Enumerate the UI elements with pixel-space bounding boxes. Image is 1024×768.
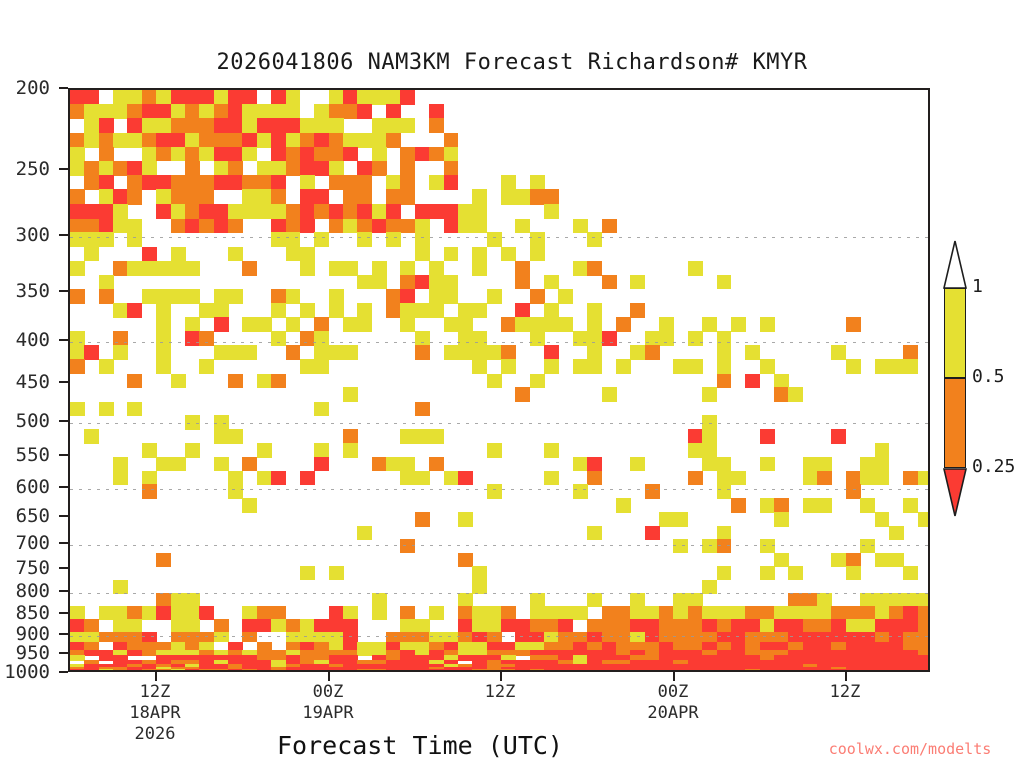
heatmap-cell — [587, 619, 602, 632]
heatmap-cell — [214, 204, 229, 219]
y-tick-mark-250 — [59, 168, 68, 170]
heatmap-cell — [774, 619, 789, 632]
heatmap-cell — [429, 147, 444, 161]
heatmap-cell — [156, 261, 171, 276]
heatmap-cell — [487, 345, 502, 360]
heatmap-cell — [846, 669, 861, 672]
heatmap-cell — [343, 619, 358, 632]
heatmap-cell — [300, 261, 315, 276]
heatmap-cell — [889, 671, 904, 672]
heatmap-cell — [515, 189, 530, 204]
heatmap-cell — [228, 90, 243, 105]
heatmap-cell — [788, 619, 803, 632]
heatmap-cell — [731, 632, 746, 643]
heatmap-cell — [400, 175, 415, 190]
heatmap-cell — [875, 671, 890, 672]
heatmap-cell — [515, 632, 530, 643]
heatmap-cell — [573, 261, 588, 276]
heatmap-cell — [70, 671, 85, 672]
heatmap-cell — [357, 104, 372, 118]
heatmap-cell — [717, 566, 732, 580]
y-tick-mark-850 — [59, 612, 68, 614]
heatmap-cell — [429, 632, 444, 643]
heatmap-cell — [530, 632, 545, 643]
heatmap-cell — [343, 204, 358, 219]
heatmap-cell — [242, 632, 257, 643]
heatmap-cell — [415, 429, 430, 444]
heatmap-cell — [544, 275, 559, 290]
heatmap-cell — [760, 606, 775, 619]
heatmap-cell — [242, 90, 257, 105]
heatmap-cell — [573, 671, 588, 672]
heatmap-cell — [242, 261, 257, 276]
heatmap-cell — [400, 669, 415, 672]
heatmap-cell — [300, 632, 315, 643]
heatmap-cell — [171, 118, 186, 133]
heatmap-cell — [199, 118, 214, 133]
heatmap-cell — [688, 261, 703, 276]
heatmap-cell — [472, 345, 487, 360]
y-axis-label-450: 450 — [0, 371, 50, 393]
heatmap-cell — [185, 289, 200, 304]
heatmap-cell — [357, 189, 372, 204]
heatmap-cell — [400, 429, 415, 444]
heatmap-cell — [846, 317, 861, 332]
heatmap-cell — [286, 161, 301, 176]
heatmap-cell — [587, 331, 602, 345]
colorbar-cap-below — [943, 468, 967, 516]
heatmap-cell — [357, 671, 372, 672]
heatmap-cell — [645, 526, 660, 540]
heatmap-cell — [300, 189, 315, 204]
heatmap-cell — [860, 457, 875, 471]
heatmap-cell — [113, 104, 128, 118]
heatmap-cell — [314, 118, 329, 133]
heatmap-cell — [903, 606, 918, 619]
y-axis-label-850: 850 — [0, 602, 50, 624]
heatmap-cell — [918, 632, 930, 643]
heatmap-cell — [372, 118, 387, 133]
y-tick-mark-450 — [59, 381, 68, 383]
heatmap-cell — [558, 289, 573, 304]
heatmap-cell — [314, 457, 329, 471]
heatmap-cell — [329, 161, 344, 176]
heatmap-cell — [214, 147, 229, 161]
heatmap-cell — [70, 619, 85, 632]
heatmap-cell — [171, 133, 186, 148]
heatmap-cell — [228, 104, 243, 118]
heatmap-cell — [343, 345, 358, 360]
heatmap-cell — [372, 671, 387, 672]
heatmap-cell — [717, 331, 732, 345]
heatmap-cell — [357, 133, 372, 148]
heatmap-cell — [314, 345, 329, 360]
heatmap-cell — [257, 471, 272, 485]
heatmap-cell — [286, 671, 301, 672]
heatmap-cell — [760, 566, 775, 580]
heatmap-cell — [127, 606, 142, 619]
heatmap-cell — [300, 133, 315, 148]
heatmap-cell — [444, 345, 459, 360]
heatmap-cell — [515, 671, 530, 672]
heatmap-cell — [429, 275, 444, 290]
heatmap-cell — [357, 275, 372, 290]
heatmap-cell — [242, 457, 257, 471]
heatmap-cell — [127, 189, 142, 204]
heatmap-cell — [156, 90, 171, 105]
heatmap-cell — [487, 484, 502, 498]
heatmap-cell — [831, 632, 846, 643]
heatmap-cell — [343, 317, 358, 332]
heatmap-cell — [602, 331, 617, 345]
heatmap-cell — [271, 289, 286, 304]
heatmap-cell — [472, 261, 487, 276]
heatmap-cell — [171, 457, 186, 471]
heatmap-cell — [415, 669, 430, 672]
heatmap-cell — [113, 189, 128, 204]
heatmap-cell — [185, 261, 200, 276]
heatmap-cell — [228, 345, 243, 360]
heatmap-cell — [314, 104, 329, 118]
heatmap-cell — [271, 619, 286, 632]
heatmap-cell — [803, 606, 818, 619]
heatmap-cell — [659, 606, 674, 619]
heatmap-cell — [645, 606, 660, 619]
heatmap-cell — [99, 204, 114, 219]
heatmap-cell — [817, 606, 832, 619]
heatmap-cell — [788, 632, 803, 643]
heatmap-cell — [127, 104, 142, 118]
heatmap-cell — [846, 359, 861, 374]
y-tick-mark-750 — [59, 567, 68, 569]
x-axis-label-4: 12Z — [785, 682, 905, 703]
heatmap-cell — [228, 671, 243, 672]
heatmap-cell — [300, 204, 315, 219]
colorbar-segment-0 — [944, 288, 966, 378]
heatmap-cell — [587, 303, 602, 317]
heatmap-cell — [702, 387, 717, 402]
heatmap-cell — [530, 175, 545, 190]
heatmap-cell — [171, 175, 186, 190]
heatmap-cell — [774, 387, 789, 402]
heatmap-cell — [84, 619, 99, 632]
heatmap-cell — [472, 359, 487, 374]
heatmap-cell — [271, 118, 286, 133]
heatmap-cell — [444, 247, 459, 261]
heatmap-cell — [271, 104, 286, 118]
heatmap-cell — [760, 359, 775, 374]
heatmap-cell — [415, 471, 430, 485]
heatmap-cell — [171, 671, 186, 672]
heatmap-cell — [386, 671, 401, 672]
heatmap-cell — [444, 175, 459, 190]
heatmap-cell — [199, 147, 214, 161]
heatmap-cell — [702, 606, 717, 619]
heatmap-cell — [616, 317, 631, 332]
heatmap-cell — [156, 104, 171, 118]
heatmap-cell — [185, 632, 200, 643]
heatmap-cell — [860, 606, 875, 619]
colorbar-cap-above — [943, 240, 967, 288]
heatmap-cell — [142, 104, 157, 118]
heatmap-cell — [171, 606, 186, 619]
heatmap-cell — [386, 457, 401, 471]
heatmap-cell — [472, 632, 487, 643]
heatmap-cell — [400, 189, 415, 204]
heatmap-cell — [214, 619, 229, 632]
heatmap-cell — [602, 387, 617, 402]
heatmap-cell — [99, 275, 114, 290]
heatmap-cell — [645, 671, 660, 672]
heatmap-cell — [386, 303, 401, 317]
heatmap-cell — [444, 133, 459, 148]
heatmap-cell — [70, 669, 85, 672]
heatmap-cell — [458, 471, 473, 485]
heatmap-cell — [903, 471, 918, 485]
heatmap-cell — [889, 359, 904, 374]
heatmap-cell — [530, 232, 545, 247]
heatmap-cell — [300, 331, 315, 345]
heatmap-cell — [918, 606, 930, 619]
y-axis-label-600: 600 — [0, 476, 50, 498]
heatmap-cell — [745, 671, 760, 672]
heatmap-cell — [70, 331, 85, 345]
heatmap-cell — [199, 104, 214, 118]
heatmap-cell — [760, 429, 775, 444]
heatmap-cell — [329, 566, 344, 580]
heatmap-cell — [415, 147, 430, 161]
heatmap-cell — [415, 345, 430, 360]
heatmap-cell — [472, 669, 487, 672]
heatmap-cell — [400, 303, 415, 317]
heatmap-cell — [702, 429, 717, 444]
heatmap-cell — [242, 669, 257, 672]
heatmap-cell — [286, 247, 301, 261]
heatmap-cell — [343, 429, 358, 444]
heatmap-cell — [242, 204, 257, 219]
heatmap-cell — [127, 133, 142, 148]
heatmap-cell — [573, 359, 588, 374]
heatmap-cell — [860, 593, 875, 607]
heatmap-cell — [286, 104, 301, 118]
heatmap-cell — [343, 90, 358, 105]
heatmap-cell — [530, 374, 545, 388]
heatmap-cell — [329, 345, 344, 360]
x-tick-mark-1 — [328, 672, 330, 681]
y-axis-label-650: 650 — [0, 505, 50, 527]
heatmap-cell — [314, 669, 329, 672]
heatmap-cell — [803, 498, 818, 512]
heatmap-cell — [171, 632, 186, 643]
heatmap-cell — [357, 650, 372, 656]
heatmap-cell — [602, 671, 617, 672]
heatmap-cell — [386, 118, 401, 133]
heatmap-cell — [860, 498, 875, 512]
heatmap-cell — [214, 161, 229, 176]
heatmap-cell — [242, 606, 257, 619]
heatmap-cell — [329, 104, 344, 118]
heatmap-cell — [860, 671, 875, 672]
heatmap-cell — [400, 275, 415, 290]
heatmap-cell — [587, 261, 602, 276]
chart-title: 2026041806 NAM3KM Forecast Richardson# K… — [0, 50, 1024, 75]
colorbar-label-2: 0.25 — [972, 456, 1015, 477]
heatmap-cell — [171, 204, 186, 219]
heatmap-cell — [774, 669, 789, 672]
heatmap-cell — [530, 606, 545, 619]
heatmap-cell — [515, 669, 530, 672]
heatmap-cell — [587, 457, 602, 471]
heatmap-cell — [903, 619, 918, 632]
heatmap-cell — [372, 275, 387, 290]
heatmap-cell — [889, 526, 904, 540]
heatmap-cell — [99, 219, 114, 233]
heatmap-cell — [444, 161, 459, 176]
heatmap-cell — [702, 671, 717, 672]
heatmap-cell — [286, 118, 301, 133]
heatmap-cell — [717, 632, 732, 643]
heatmap-cell — [544, 443, 559, 458]
heatmap-cell — [386, 133, 401, 148]
heatmap-cell — [372, 606, 387, 619]
heatmap-cell — [860, 619, 875, 632]
heatmap-cell — [113, 219, 128, 233]
heatmap-cell — [214, 303, 229, 317]
heatmap-cell — [314, 232, 329, 247]
heatmap-cell — [688, 606, 703, 619]
heatmap-cell — [415, 247, 430, 261]
heatmap-cell — [515, 650, 530, 656]
heatmap-cell — [530, 289, 545, 304]
heatmap-cell — [156, 331, 171, 345]
heatmap-cell — [228, 118, 243, 133]
heatmap-cell — [242, 175, 257, 190]
y-axis-label-200: 200 — [0, 77, 50, 99]
heatmap-cell — [386, 232, 401, 247]
heatmap-cell — [99, 669, 114, 672]
heatmap-cell — [171, 104, 186, 118]
heatmap-cell — [357, 303, 372, 317]
heatmap-cell — [185, 90, 200, 105]
heatmap-cell — [329, 204, 344, 219]
heatmap-cell — [429, 261, 444, 276]
heatmap-cell — [70, 345, 85, 360]
heatmap-cell — [70, 402, 85, 416]
heatmap-cell — [99, 606, 114, 619]
heatmap-cell — [228, 175, 243, 190]
heatmap-cell — [444, 317, 459, 332]
heatmap-cell — [673, 512, 688, 527]
heatmap-cell — [228, 247, 243, 261]
heatmap-cell — [171, 189, 186, 204]
heatmap-cell — [171, 374, 186, 388]
heatmap-cell — [774, 553, 789, 567]
heatmap-cell — [314, 359, 329, 374]
heatmap-cell — [616, 632, 631, 643]
x-tick-mark-4 — [845, 672, 847, 681]
heatmap-cell — [113, 457, 128, 471]
heatmap-cell — [415, 632, 430, 643]
heatmap-cell — [214, 632, 229, 643]
heatmap-cell — [156, 671, 171, 672]
heatmap-cell — [903, 566, 918, 580]
heatmap-cell — [515, 317, 530, 332]
heatmap-cell — [199, 219, 214, 233]
heatmap-cell — [817, 471, 832, 485]
heatmap-cell — [286, 669, 301, 672]
y-tick-mark-550 — [59, 454, 68, 456]
heatmap-cell — [343, 219, 358, 233]
heatmap-cell — [185, 118, 200, 133]
heatmap-cell — [372, 669, 387, 672]
heatmap-cell — [199, 303, 214, 317]
heatmap-cell — [501, 345, 516, 360]
heatmap-cell — [875, 359, 890, 374]
heatmap-cell — [400, 261, 415, 276]
heatmap-cell — [889, 669, 904, 672]
heatmap-cell — [558, 619, 573, 632]
heatmap-cell — [214, 219, 229, 233]
heatmap-cell — [84, 671, 99, 672]
heatmap-cell — [616, 619, 631, 632]
heatmap-cell — [127, 650, 142, 656]
heatmap-cell — [343, 671, 358, 672]
heatmap-cell — [214, 317, 229, 332]
heatmap-plot-area — [68, 88, 930, 672]
heatmap-cell — [171, 261, 186, 276]
heatmap-cell — [645, 632, 660, 643]
heatmap-cell — [343, 606, 358, 619]
heatmap-cell — [602, 669, 617, 672]
heatmap-cell — [587, 632, 602, 643]
heatmap-cell — [831, 553, 846, 567]
heatmap-cell — [415, 671, 430, 672]
heatmap-cell — [343, 175, 358, 190]
heatmap-cell — [444, 219, 459, 233]
heatmap-cell — [343, 261, 358, 276]
heatmap-cell — [99, 147, 114, 161]
heatmap-cell — [329, 118, 344, 133]
heatmap-cell — [185, 671, 200, 672]
heatmap-cell — [530, 671, 545, 672]
heatmap-cell — [903, 669, 918, 672]
heatmap-cell — [645, 331, 660, 345]
heatmap-cell — [300, 671, 315, 672]
heatmap-cell — [602, 632, 617, 643]
heatmap-cell — [257, 669, 272, 672]
heatmap-cell — [113, 632, 128, 643]
heatmap-cell — [630, 619, 645, 632]
heatmap-cell — [156, 133, 171, 148]
heatmap-cell — [760, 539, 775, 553]
heatmap-cell — [343, 189, 358, 204]
heatmap-cell — [113, 580, 128, 594]
heatmap-cell — [242, 189, 257, 204]
heatmap-cell — [271, 303, 286, 317]
heatmap-cell — [415, 331, 430, 345]
heatmap-cell — [645, 484, 660, 498]
heatmap-cell — [889, 553, 904, 567]
heatmap-cell — [458, 303, 473, 317]
heatmap-cell — [918, 671, 930, 672]
heatmap-cell — [113, 671, 128, 672]
heatmap-cell — [645, 345, 660, 360]
heatmap-cell — [314, 204, 329, 219]
heatmap-cell — [343, 104, 358, 118]
heatmap-cell — [185, 606, 200, 619]
heatmap-cell — [444, 671, 459, 672]
heatmap-cell — [400, 671, 415, 672]
